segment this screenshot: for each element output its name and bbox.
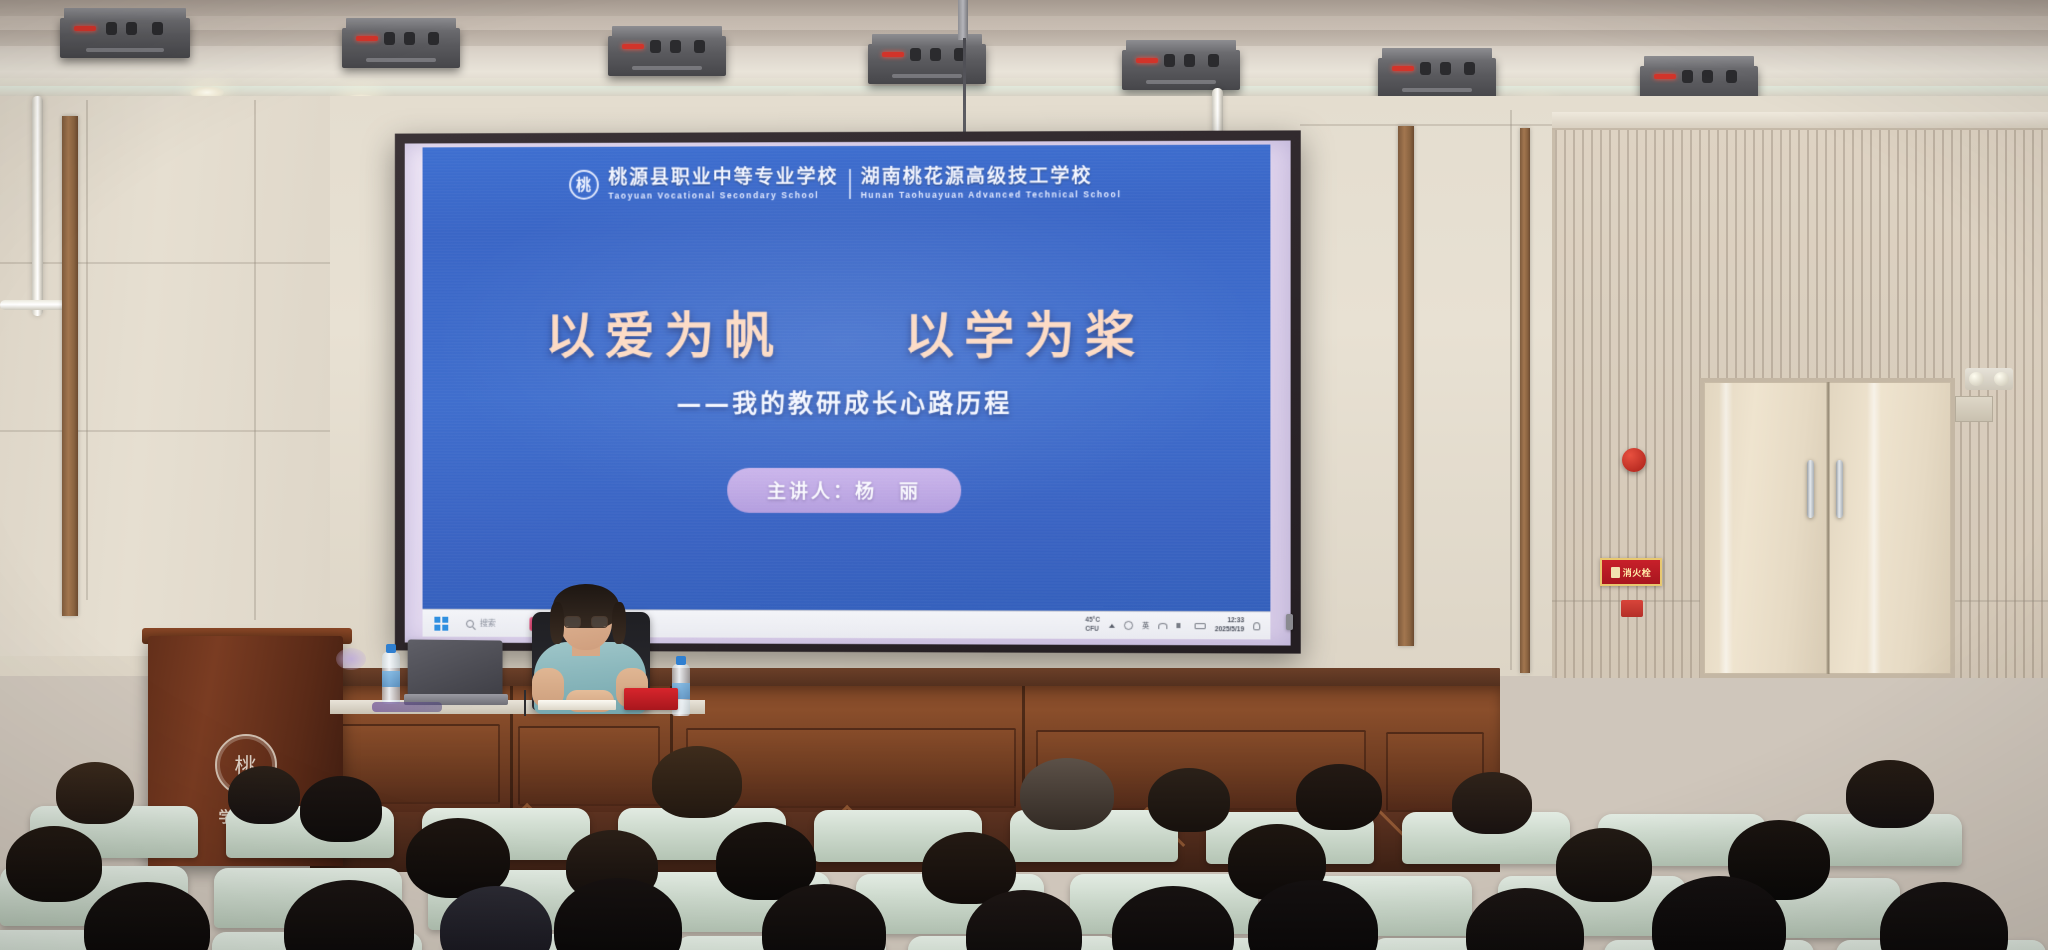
audience-area <box>0 690 2048 950</box>
cpu-temperature-value: 45°C <box>1085 617 1100 625</box>
cpu-temperature-widget[interactable]: 45°C CFU <box>1085 617 1100 633</box>
cpu-temperature-label: CFU <box>1085 625 1100 633</box>
audience-head <box>1846 760 1934 828</box>
wall-trim-strip <box>62 116 78 616</box>
wall-trim-strip <box>1398 126 1414 646</box>
clock-date: 2025/5/19 <box>1215 626 1244 635</box>
wall-seam <box>1300 124 1560 126</box>
audience-head <box>1556 828 1652 902</box>
fire-hydrant-label: 消火栓 <box>1623 566 1652 579</box>
ceiling-light-fixture <box>1378 58 1496 98</box>
wall-seam <box>1510 110 1512 670</box>
panel-cornice <box>1552 112 2048 130</box>
auditorium-door[interactable] <box>1700 378 1955 678</box>
screen-scanlines <box>423 145 1271 612</box>
ceiling-light-fixture <box>342 28 460 68</box>
slide-subtitle: ——我的教研成长心路历程 <box>423 384 1271 420</box>
audience-head <box>228 766 300 824</box>
school-left-name-en: Taoyuan Vocational Secondary School <box>608 191 819 200</box>
presentation-slide: 桃 桃源县职业中等专业学校 Taoyuan Vocational Seconda… <box>423 145 1271 612</box>
projection-screen: 桃 桃源县职业中等专业学校 Taoyuan Vocational Seconda… <box>395 130 1301 653</box>
door-leaf-left[interactable] <box>1704 382 1828 674</box>
ceiling-light-fixture <box>60 18 190 58</box>
ceiling-light-fixture <box>868 44 986 84</box>
screen-side-marker <box>1286 614 1293 630</box>
ime-indicator[interactable]: 英 <box>1142 620 1149 630</box>
school-left-name-cn: 桃源县职业中等专业学校 <box>608 168 838 188</box>
school-seal-icon: 桃 <box>569 170 599 200</box>
wall-control-plate[interactable] <box>1955 396 1993 422</box>
audience-head <box>300 776 382 842</box>
wall-trim-strip <box>1520 128 1530 673</box>
wall-seam <box>0 262 330 264</box>
wall-seam <box>254 100 256 620</box>
door-gap <box>1826 382 1829 674</box>
emergency-light-unit <box>1965 368 2013 390</box>
wall-pole-cross <box>0 300 70 310</box>
ceiling-light-fixture <box>1122 50 1240 90</box>
audience-head <box>1148 768 1230 832</box>
wall-pole <box>32 96 43 316</box>
search-icon <box>466 619 474 627</box>
door-leaf-right[interactable] <box>1828 382 1952 674</box>
search-placeholder-text: 搜索 <box>480 618 496 629</box>
presenter-hair-side <box>612 602 626 644</box>
system-tray: 45°C CFU 英 12:33 2025/5/19 <box>1085 617 1270 635</box>
speaker-name-badge: 主讲人：杨 丽 <box>727 468 961 513</box>
brand-divider <box>849 169 851 199</box>
presenter-hair-side <box>550 602 564 644</box>
fire-hydrant-icon <box>1611 567 1620 578</box>
audience-head <box>1452 772 1532 834</box>
audience-head <box>1020 758 1114 830</box>
lecture-hall-photo: 桃 桃源县职业中等专业学校 Taoyuan Vocational Seconda… <box>0 0 2048 950</box>
school-left-block: 桃源县职业中等专业学校 Taoyuan Vocational Secondary… <box>608 168 838 200</box>
windows-logo-icon[interactable] <box>434 616 448 630</box>
podium-lamp-glow <box>336 648 366 670</box>
battery-icon[interactable] <box>1195 623 1206 629</box>
fire-hydrant-sign: 消火栓 <box>1600 558 1662 586</box>
audience-head <box>652 746 742 818</box>
slide-title: 以爱为帆 以学为桨 <box>423 295 1271 368</box>
wall-alarm-button[interactable] <box>1621 600 1643 617</box>
cloud-icon[interactable] <box>1124 621 1133 630</box>
audience-head <box>1296 764 1382 830</box>
projector-glow <box>423 145 1271 612</box>
taskbar-search-box[interactable]: 搜索 <box>456 616 505 631</box>
taskbar-clock[interactable]: 12:33 2025/5/19 <box>1215 617 1244 634</box>
door-handle-left[interactable] <box>1807 460 1814 518</box>
wall-seam <box>0 430 330 432</box>
school-right-name-cn: 湖南桃花源高级技工学校 <box>861 167 1093 187</box>
wall-seam <box>86 100 88 600</box>
ceiling-light-fixture <box>608 36 726 76</box>
fire-alarm-bell <box>1622 448 1646 472</box>
school-right-block: 湖南桃花源高级技工学校 Hunan Taohuayuan Advanced Te… <box>861 167 1122 199</box>
wifi-icon[interactable] <box>1158 622 1167 628</box>
left-wall <box>0 96 330 656</box>
bell-icon[interactable] <box>1253 622 1260 630</box>
door-handle-right[interactable] <box>1836 460 1843 518</box>
projector-mount <box>958 0 968 40</box>
audience-head <box>56 762 134 824</box>
speaker-icon[interactable] <box>1177 621 1186 630</box>
audience-head <box>6 826 102 902</box>
chevron-up-icon[interactable] <box>1109 623 1115 627</box>
presenter-glasses <box>564 616 608 628</box>
school-right-name-en: Hunan Taohuayuan Advanced Technical Scho… <box>861 190 1122 199</box>
clock-time: 12:33 <box>1215 617 1244 626</box>
slide-branding-header: 桃 桃源县职业中等专业学校 Taoyuan Vocational Seconda… <box>423 167 1271 201</box>
